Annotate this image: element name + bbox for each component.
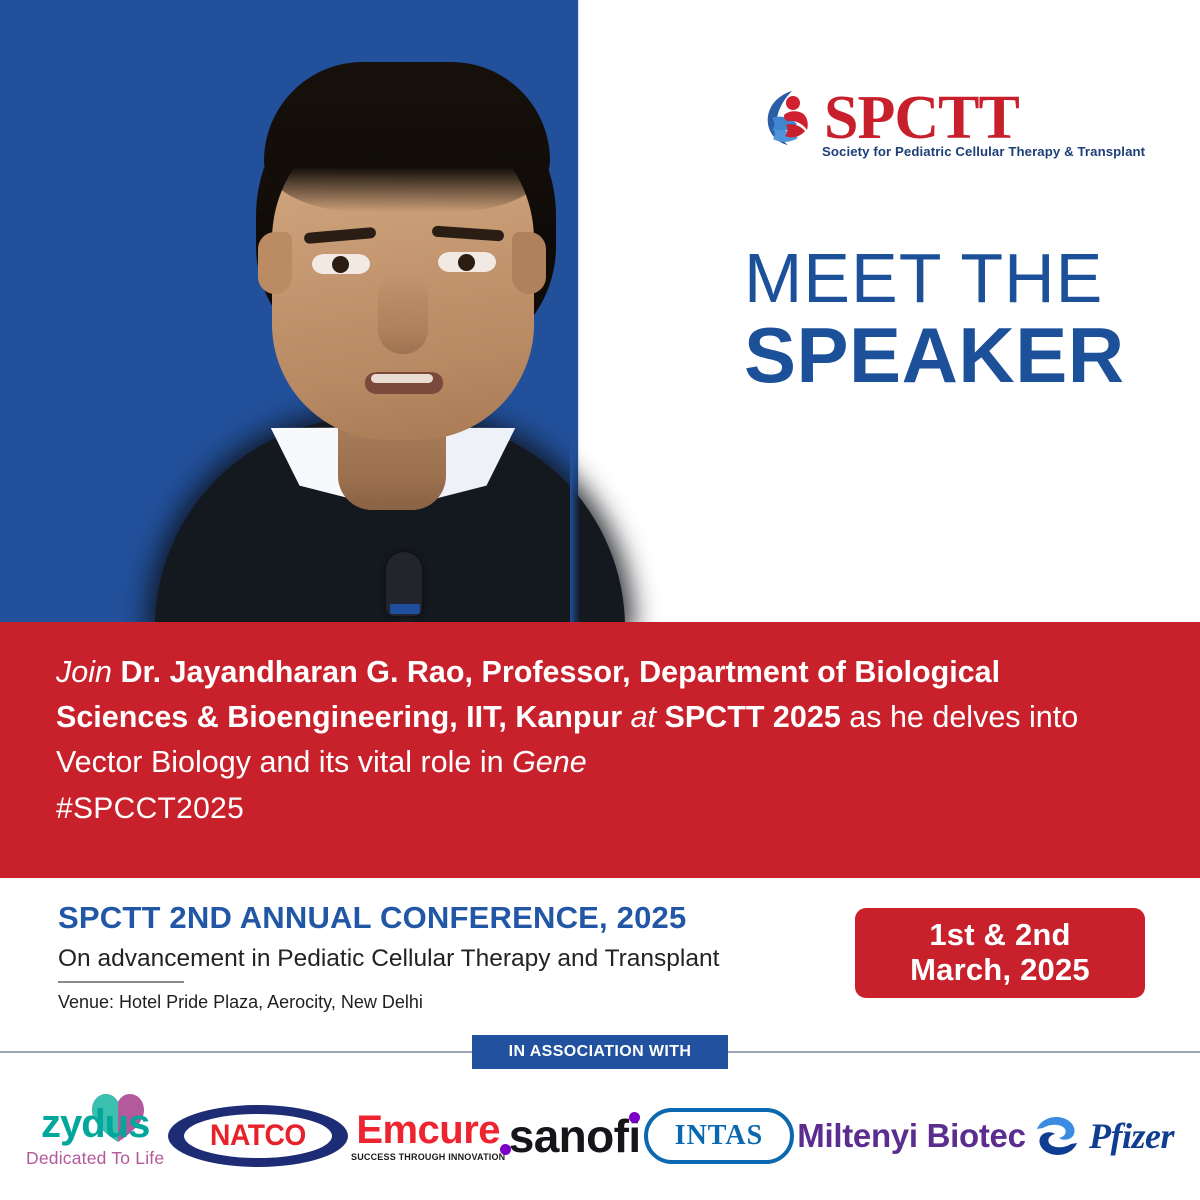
sanofi-dot-right-icon: [629, 1112, 640, 1123]
photo-eye-left: [312, 254, 370, 274]
date-badge-line-1: 1st & 2nd: [929, 918, 1070, 953]
miltenyi-wordmark: Miltenyi Biotec: [797, 1117, 1025, 1155]
conference-subtitle: On advancement in Pediatic Cellular Ther…: [58, 945, 848, 973]
natco-inner-ellipse: NATCO: [184, 1114, 332, 1158]
spctt-logo-tagline: Society for Pediatric Cellular Therapy &…: [822, 144, 1062, 159]
announcement-lead: Join: [56, 655, 112, 689]
conference-title: SPCTT 2ND ANNUAL CONFERENCE, 2025: [58, 900, 848, 936]
spctt-logo-text: SPCTT: [824, 88, 1019, 148]
sanofi-wordmark: sanofi: [509, 1113, 641, 1159]
date-badge-line-2: March, 2025: [910, 953, 1090, 988]
announcement-topic: Gene: [512, 745, 587, 779]
photo-hair-fringe: [264, 62, 550, 212]
sponsor-logo-natco: NATCO: [168, 1105, 348, 1167]
conference-info: SPCTT 2ND ANNUAL CONFERENCE, 2025 On adv…: [58, 900, 848, 1013]
speaker-photo: [60, 0, 720, 622]
association-label-box: IN ASSOCIATION WITH: [472, 1035, 728, 1069]
panel-edge-gradient: [570, 0, 580, 622]
headline-line-2: SPEAKER: [744, 317, 1164, 393]
photo-nose: [378, 272, 428, 354]
poster-canvas: SPCTT Society for Pediatric Cellular The…: [0, 0, 1200, 1200]
emcure-tagline: SUCCESS THROUGH INNOVATION: [351, 1152, 505, 1162]
sponsor-logo-emcure: Emcure SUCCESS THROUGH INNOVATION: [351, 1110, 505, 1162]
association-label: IN ASSOCIATION WITH: [509, 1043, 692, 1061]
hero-headline: MEET THE SPEAKER: [744, 244, 1164, 393]
association-banner: IN ASSOCIATION WITH: [0, 1035, 1200, 1069]
announcement-band: Join Dr. Jayandharan G. Rao, Professor, …: [0, 622, 1200, 878]
natco-wordmark: NATCO: [210, 1119, 306, 1153]
announcement-text: Join Dr. Jayandharan G. Rao, Professor, …: [56, 650, 1126, 785]
emcure-wordmark: Emcure: [356, 1110, 500, 1150]
announcement-connector: at: [631, 700, 656, 734]
photo-microphone-band: [390, 604, 420, 614]
photo-eye-right: [438, 252, 496, 272]
conference-divider: [58, 981, 184, 983]
sponsor-logo-intas: INTAS: [644, 1108, 794, 1164]
sponsor-logo-pfizer: Pfizer: [1029, 1113, 1174, 1159]
sponsor-logo-zydus: zydus Dedicated To Life: [26, 1104, 164, 1169]
sanofi-dot-left-icon: [500, 1144, 511, 1155]
sponsor-logo-row: zydus Dedicated To Life NATCO Emcure SUC…: [0, 1086, 1200, 1186]
hero-section: SPCTT Society for Pediatric Cellular The…: [0, 0, 1200, 622]
photo-ear-left: [258, 232, 292, 294]
photo-ear-right: [512, 232, 546, 294]
zydus-tagline: Dedicated To Life: [26, 1148, 164, 1169]
headline-line-1: MEET THE: [744, 244, 1164, 313]
intas-wordmark: INTAS: [675, 1120, 764, 1152]
spctt-swoosh-figure-icon: [762, 88, 822, 148]
sponsor-logo-sanofi: sanofi: [509, 1113, 641, 1159]
announcement-hashtag: #SPCCT2025: [56, 792, 244, 826]
intas-rounded-frame: INTAS: [644, 1108, 794, 1164]
announcement-event: SPCTT 2025: [664, 700, 840, 734]
spctt-logo: SPCTT Society for Pediatric Cellular The…: [762, 88, 1062, 176]
pfizer-swirl-icon: [1029, 1113, 1085, 1159]
zydus-wordmark: zydus: [41, 1104, 149, 1144]
pfizer-wordmark: Pfizer: [1089, 1115, 1174, 1157]
conference-venue: Venue: Hotel Pride Plaza, Aerocity, New …: [58, 992, 848, 1013]
photo-teeth: [371, 374, 433, 383]
sponsor-logo-miltenyi: Miltenyi Biotec: [797, 1117, 1025, 1155]
date-badge: 1st & 2nd March, 2025: [855, 908, 1145, 998]
